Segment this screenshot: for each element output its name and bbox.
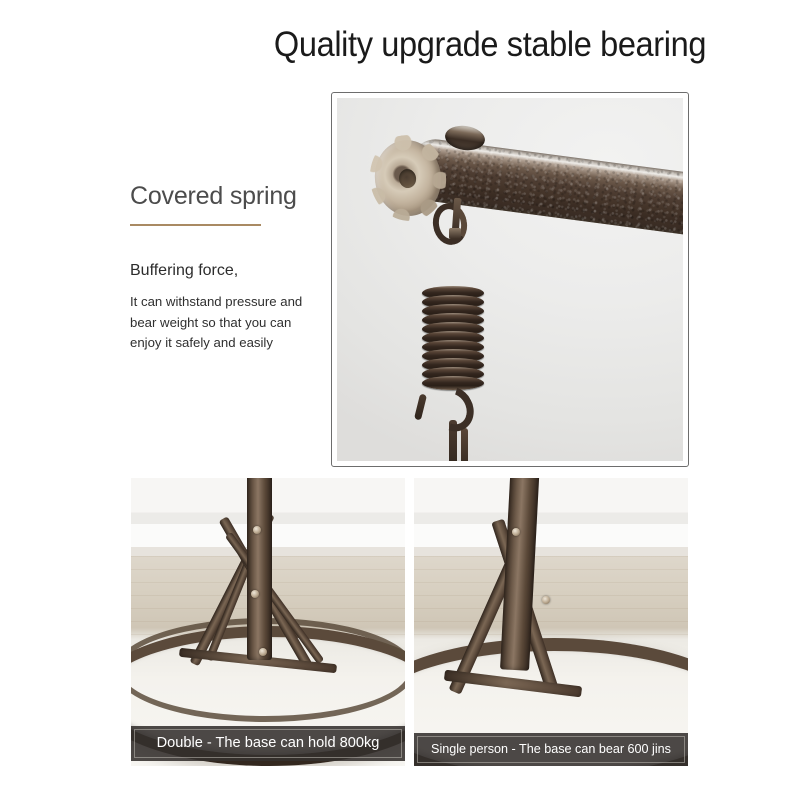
hook-shank-secondary	[461, 428, 468, 461]
product-feature-page: Quality upgrade stable bearing Covered s…	[0, 0, 800, 800]
hook-tip	[414, 394, 427, 421]
main-photo-canvas	[337, 98, 683, 461]
screw-icon	[251, 590, 259, 598]
floral-end-cap	[370, 136, 446, 220]
screw-icon	[512, 528, 520, 536]
eye-bolt-nut	[449, 228, 461, 239]
feature-body-text: It can withstand pressure and bear weigh…	[130, 292, 320, 354]
caption-bar-single: Single person - The base can bear 600 ji…	[414, 733, 688, 766]
main-product-photo	[331, 92, 689, 467]
page-title: Quality upgrade stable bearing	[258, 22, 723, 68]
screw-icon	[253, 526, 261, 534]
vertical-post	[247, 478, 272, 660]
caption-bar-double: Double - The base can hold 800kg	[131, 726, 405, 761]
screw-icon	[259, 648, 267, 656]
caption-text-double: Double - The base can hold 800kg	[134, 729, 402, 758]
base-photo-row	[131, 478, 689, 766]
heading-divider	[130, 224, 261, 226]
feature-heading: Covered spring	[130, 180, 326, 212]
feature-subheading: Buffering force,	[130, 260, 326, 282]
base-photo-double	[131, 478, 405, 766]
screw-icon	[542, 596, 550, 604]
coil-spring	[422, 286, 484, 394]
base-photo-single	[414, 478, 688, 766]
caption-text-single: Single person - The base can bear 600 ji…	[417, 736, 685, 763]
feature-text-column: Covered spring Buffering force, It can w…	[130, 180, 326, 354]
